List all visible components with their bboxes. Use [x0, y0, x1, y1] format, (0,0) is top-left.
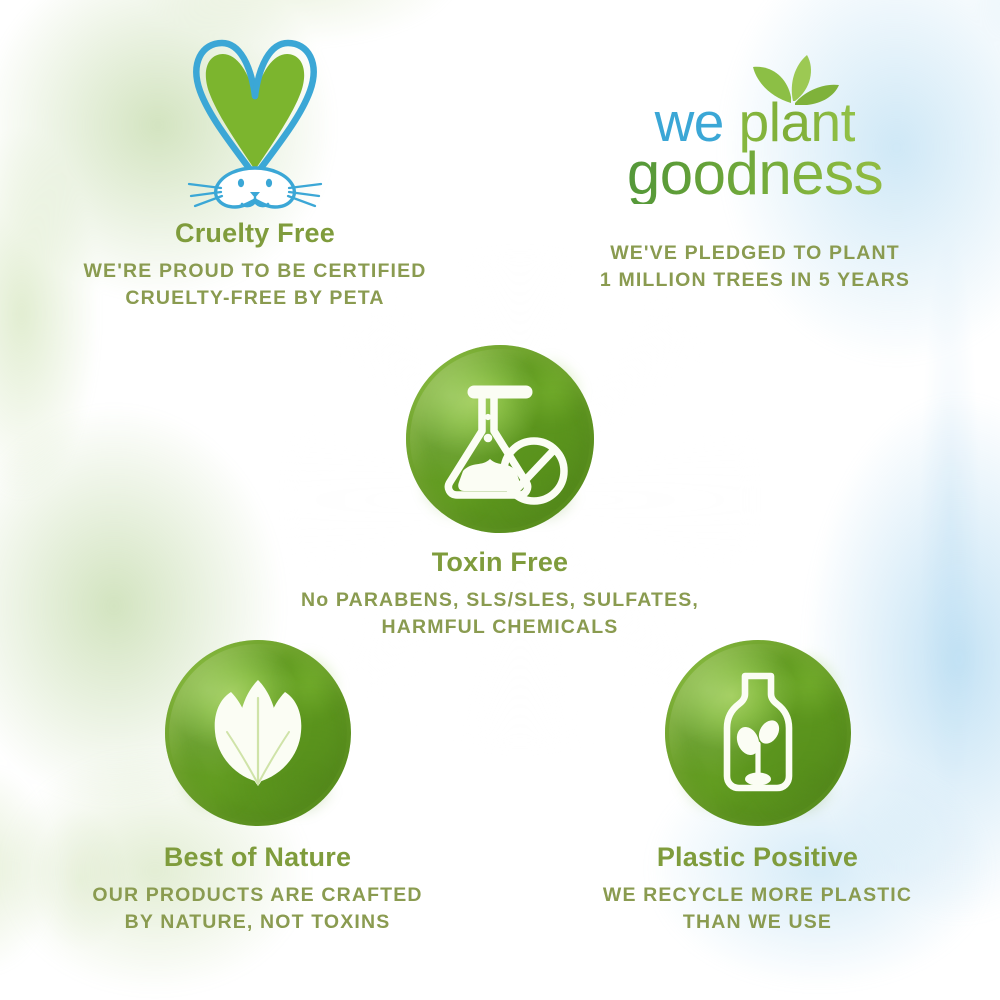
logo-word-goodness: goodness: [520, 144, 990, 204]
badge-subtitle: WE'RE PROUD TO BE CERTIFIED CRUELTY-FREE…: [10, 258, 500, 312]
badge-subtitle-line: THAN WE USE: [525, 909, 990, 936]
bottle-sprout-icon: [665, 640, 851, 826]
badge-title: Best of Nature: [25, 842, 490, 873]
badge-subtitle-line: CRUELTY-FREE BY PETA: [10, 285, 500, 312]
badge-subtitle-line: HARMFUL CHEMICALS: [262, 614, 738, 641]
badge-subtitle-line: No PARABENS, SLS/SLES, SULFATES,: [262, 587, 738, 614]
badge-subtitle-line: 1 MILLION TREES IN 5 YEARS: [520, 267, 990, 294]
sprout-leaves-icon: [733, 53, 853, 114]
badge-cruelty-free: Cruelty Free WE'RE PROUD TO BE CERTIFIED…: [10, 28, 500, 312]
logo-word-we: we: [655, 91, 724, 153]
badge-plastic-positive: Plastic Positive WE RECYCLE MORE PLASTIC…: [525, 640, 990, 936]
flask-no-toxins-icon: [406, 345, 594, 533]
badge-subtitle: WE'VE PLEDGED TO PLANT 1 MILLION TREES I…: [520, 240, 990, 294]
we-plant-goodness-logo: we plant goodness: [520, 95, 990, 204]
badge-title: Cruelty Free: [10, 218, 500, 249]
badge-title: Toxin Free: [262, 547, 738, 578]
badge-subtitle: WE RECYCLE MORE PLASTIC THAN WE USE: [525, 882, 990, 936]
badge-subtitle-line: WE'VE PLEDGED TO PLANT: [520, 240, 990, 267]
logo-line-one: we plant: [520, 95, 990, 150]
badge-toxin-free: Toxin Free No PARABENS, SLS/SLES, SULFAT…: [262, 345, 738, 641]
badge-subtitle-line: WE'RE PROUD TO BE CERTIFIED: [10, 258, 500, 285]
badge-subtitle-line: WE RECYCLE MORE PLASTIC: [525, 882, 990, 909]
plastic-positive-disc: [665, 640, 851, 826]
peta-bunny-icon: [10, 28, 500, 218]
best-of-nature-disc: [165, 640, 351, 826]
badge-subtitle: OUR PRODUCTS ARE CRAFTED BY NATURE, NOT …: [25, 882, 490, 936]
badge-title: Plastic Positive: [525, 842, 990, 873]
infographic-canvas: Cruelty Free WE'RE PROUD TO BE CERTIFIED…: [0, 0, 1000, 1000]
three-leaves-icon: [165, 640, 351, 826]
badge-subtitle-line: OUR PRODUCTS ARE CRAFTED: [25, 882, 490, 909]
badge-subtitle-line: BY NATURE, NOT TOXINS: [25, 909, 490, 936]
badge-we-plant-goodness: we plant goodness WE'VE PLEDGED TO PLANT…: [520, 95, 990, 294]
badge-subtitle: No PARABENS, SLS/SLES, SULFATES, HARMFUL…: [262, 587, 738, 641]
badge-best-of-nature: Best of Nature OUR PRODUCTS ARE CRAFTED …: [25, 640, 490, 936]
toxin-free-disc: [406, 345, 594, 533]
